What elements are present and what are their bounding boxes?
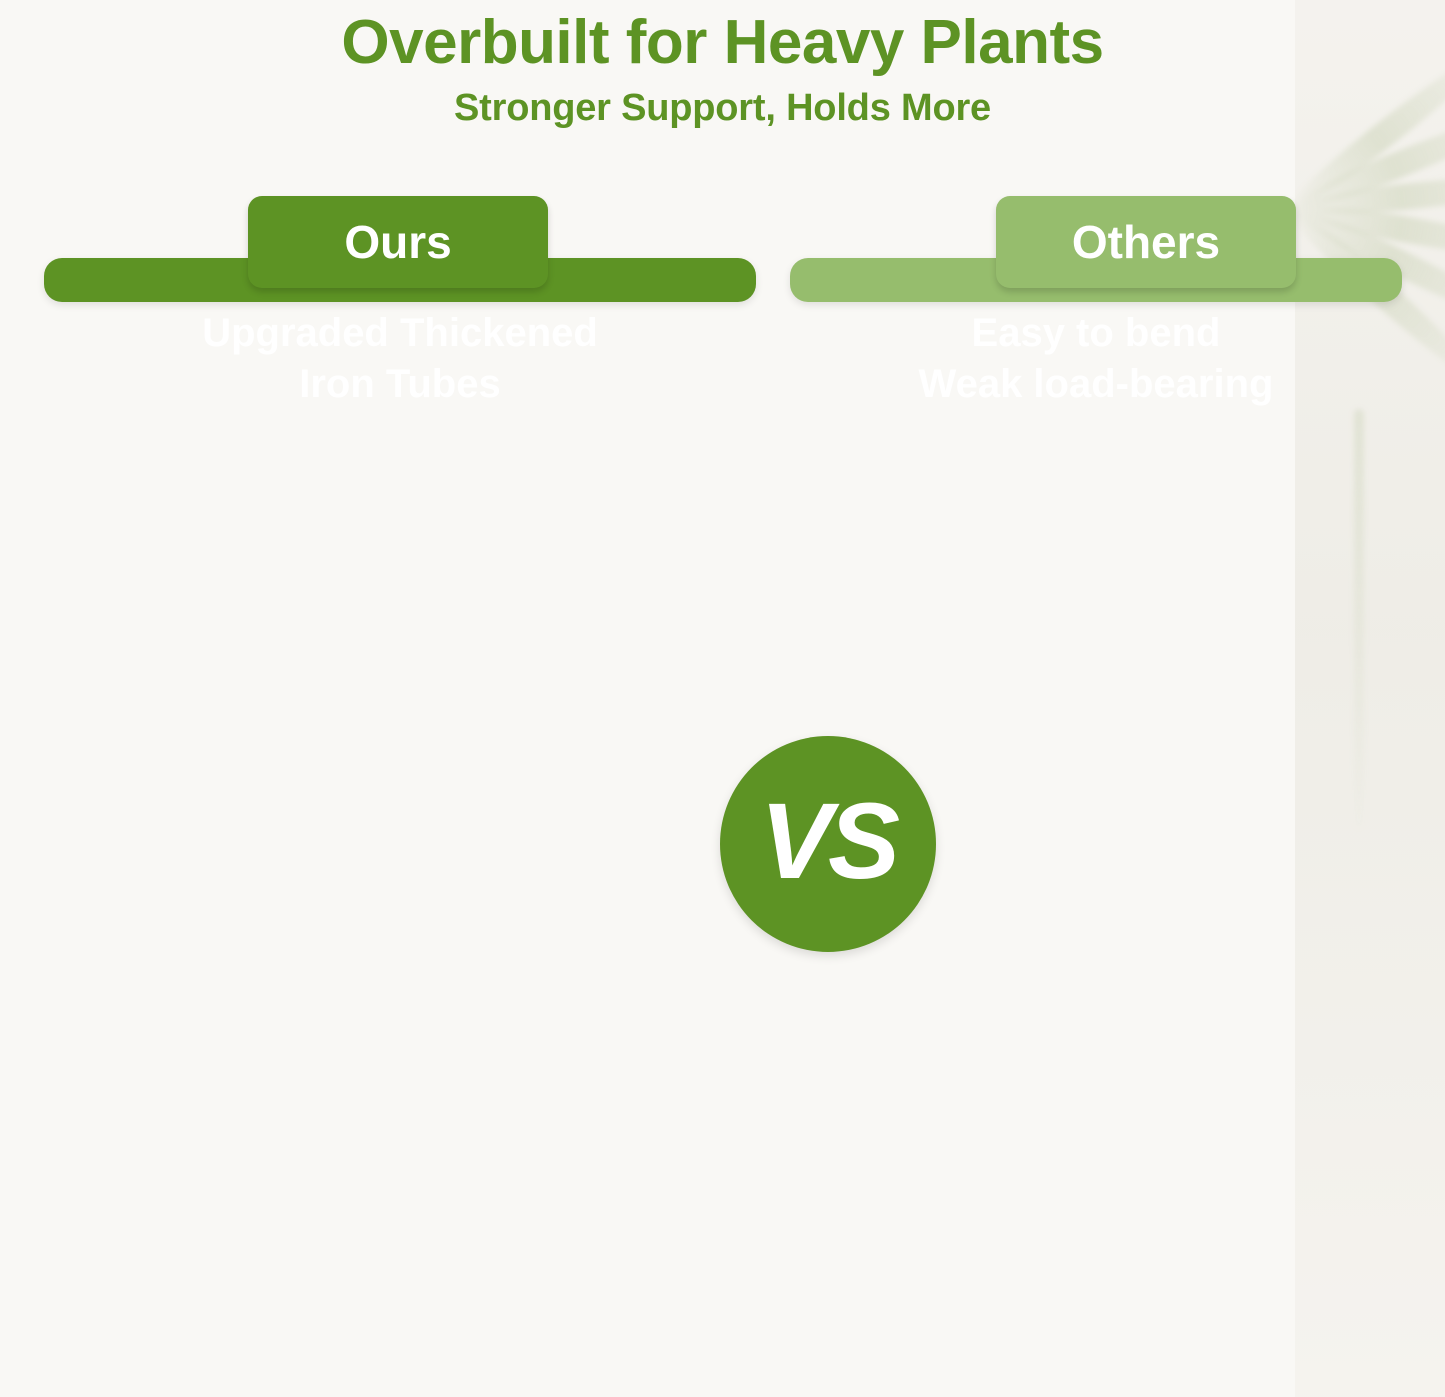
page-subtitle: Stronger Support, Holds More: [0, 87, 1445, 130]
page-title: Overbuilt for Heavy Plants: [0, 8, 1445, 77]
others-caption: Easy to bend Weak load-bearing: [812, 302, 1380, 412]
comparison-section: Ours 40lbs: [44, 196, 1403, 1336]
tab-others[interactable]: Others: [996, 196, 1296, 288]
others-caption-line1: Easy to bend: [972, 308, 1221, 359]
ours-caption-line2: Iron Tubes: [299, 359, 500, 410]
tab-others-label: Others: [1072, 215, 1220, 269]
versus-label: VS: [760, 778, 896, 903]
header: Overbuilt for Heavy Plants Stronger Supp…: [0, 0, 1445, 130]
tab-ours[interactable]: Ours: [248, 196, 548, 288]
versus-badge: VS: [720, 736, 936, 952]
tab-ours-label: Ours: [344, 215, 451, 269]
ours-caption: Upgraded Thickened Iron Tubes: [66, 302, 734, 412]
others-caption-line2: Weak load-bearing: [919, 359, 1274, 410]
ours-caption-line1: Upgraded Thickened: [202, 308, 598, 359]
